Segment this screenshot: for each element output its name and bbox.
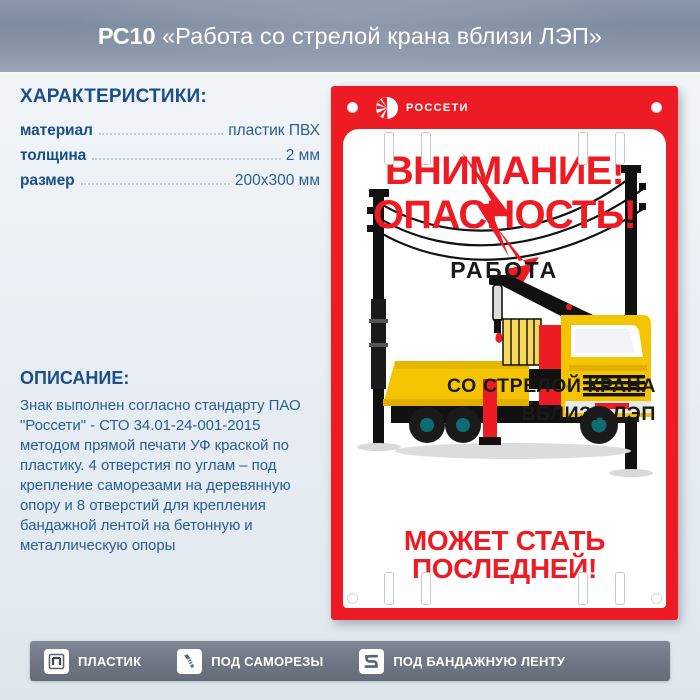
sign-consequence-line1: МОЖЕТ СТАТЬ bbox=[343, 527, 666, 555]
spec-value: 2 мм bbox=[286, 147, 320, 165]
spec-value: 200х300 мм bbox=[235, 172, 320, 190]
mounting-hole bbox=[651, 593, 662, 604]
footer-badges: ПЛАСТИК ПОД САМОРЕЗЫ bbox=[30, 641, 670, 681]
mounting-hole bbox=[651, 102, 662, 113]
band-slot bbox=[384, 132, 394, 165]
spec-value: пластик ПВХ bbox=[228, 122, 320, 140]
specifications-heading: ХАРАКТЕРИСТИКИ: bbox=[20, 86, 320, 108]
sign-face: ВНИМАНИЕ! ОПАСНОСТЬ! РАБОТА СО СТРЕЛОЙ К… bbox=[343, 129, 666, 608]
product-name: «Работа со стрелой крана вблизи ЛЭП» bbox=[162, 23, 602, 49]
plastic-icon bbox=[44, 649, 69, 674]
sign-warning-line2: ОПАСНОСТЬ! bbox=[343, 195, 666, 235]
page-title: РС10 «Работа со стрелой крана вблизи ЛЭП… bbox=[98, 23, 602, 50]
description-text: Знак выполнен согласно стандарту ПАО "Ро… bbox=[20, 396, 320, 556]
spec-row-thickness: толщина 2 мм bbox=[20, 147, 320, 165]
sign-boom-line2: ВБЛИЗИ ЛЭП bbox=[343, 405, 666, 425]
sign-red-frame: РОССЕТИ bbox=[331, 86, 678, 620]
badge-screws: ПОД САМОРЕЗЫ bbox=[177, 649, 323, 674]
badge-label: ПЛАСТИК bbox=[78, 654, 141, 669]
spec-leader bbox=[92, 158, 281, 160]
spec-row-material: материал пластик ПВХ bbox=[20, 122, 320, 140]
badge-label: ПОД САМОРЕЗЫ bbox=[211, 654, 323, 669]
band-slot bbox=[615, 572, 625, 605]
spec-row-size: размер 200х300 мм bbox=[20, 172, 320, 190]
band-slot bbox=[578, 132, 588, 165]
rosseti-sunburst-icon bbox=[375, 96, 399, 120]
specifications-section: ХАРАКТЕРИСТИКИ: материал пластик ПВХ тол… bbox=[20, 86, 320, 197]
rosseti-logo: РОССЕТИ bbox=[375, 96, 469, 120]
description-heading: ОПИСАНИЕ: bbox=[20, 368, 320, 389]
sign-boom-line1: СО СТРЕЛОЙ КРАНА bbox=[343, 377, 666, 397]
spec-leader bbox=[81, 183, 230, 185]
mounting-hole bbox=[347, 593, 358, 604]
sign-work-label: РАБОТА bbox=[343, 259, 666, 282]
spec-label: материал bbox=[20, 122, 93, 140]
product-card: РС10 «Работа со стрелой крана вблизи ЛЭП… bbox=[0, 0, 700, 700]
description-section: ОПИСАНИЕ: Знак выполнен согласно стандар… bbox=[20, 368, 320, 556]
header-divider bbox=[0, 72, 700, 75]
band-slot bbox=[421, 132, 431, 165]
band-slot bbox=[615, 132, 625, 165]
badge-label: ПОД БАНДАЖНУЮ ЛЕНТУ bbox=[393, 654, 565, 669]
spec-label: толщина bbox=[20, 147, 86, 165]
badge-band-tape: ПОД БАНДАЖНУЮ ЛЕНТУ bbox=[359, 649, 565, 674]
sign-preview: РОССЕТИ bbox=[331, 86, 678, 620]
mounting-hole bbox=[347, 102, 358, 113]
badge-plastic: ПЛАСТИК bbox=[44, 649, 141, 674]
band-slot bbox=[578, 572, 588, 605]
page-header: РС10 «Работа со стрелой крана вблизи ЛЭП… bbox=[0, 0, 700, 72]
spec-label: размер bbox=[20, 172, 75, 190]
screw-icon bbox=[177, 649, 202, 674]
band-slot bbox=[421, 572, 431, 605]
spec-leader bbox=[99, 133, 223, 135]
product-code: РС10 bbox=[98, 23, 155, 49]
band-tape-icon bbox=[359, 649, 384, 674]
band-slot bbox=[384, 572, 394, 605]
rosseti-brand-label: РОССЕТИ bbox=[406, 102, 469, 114]
